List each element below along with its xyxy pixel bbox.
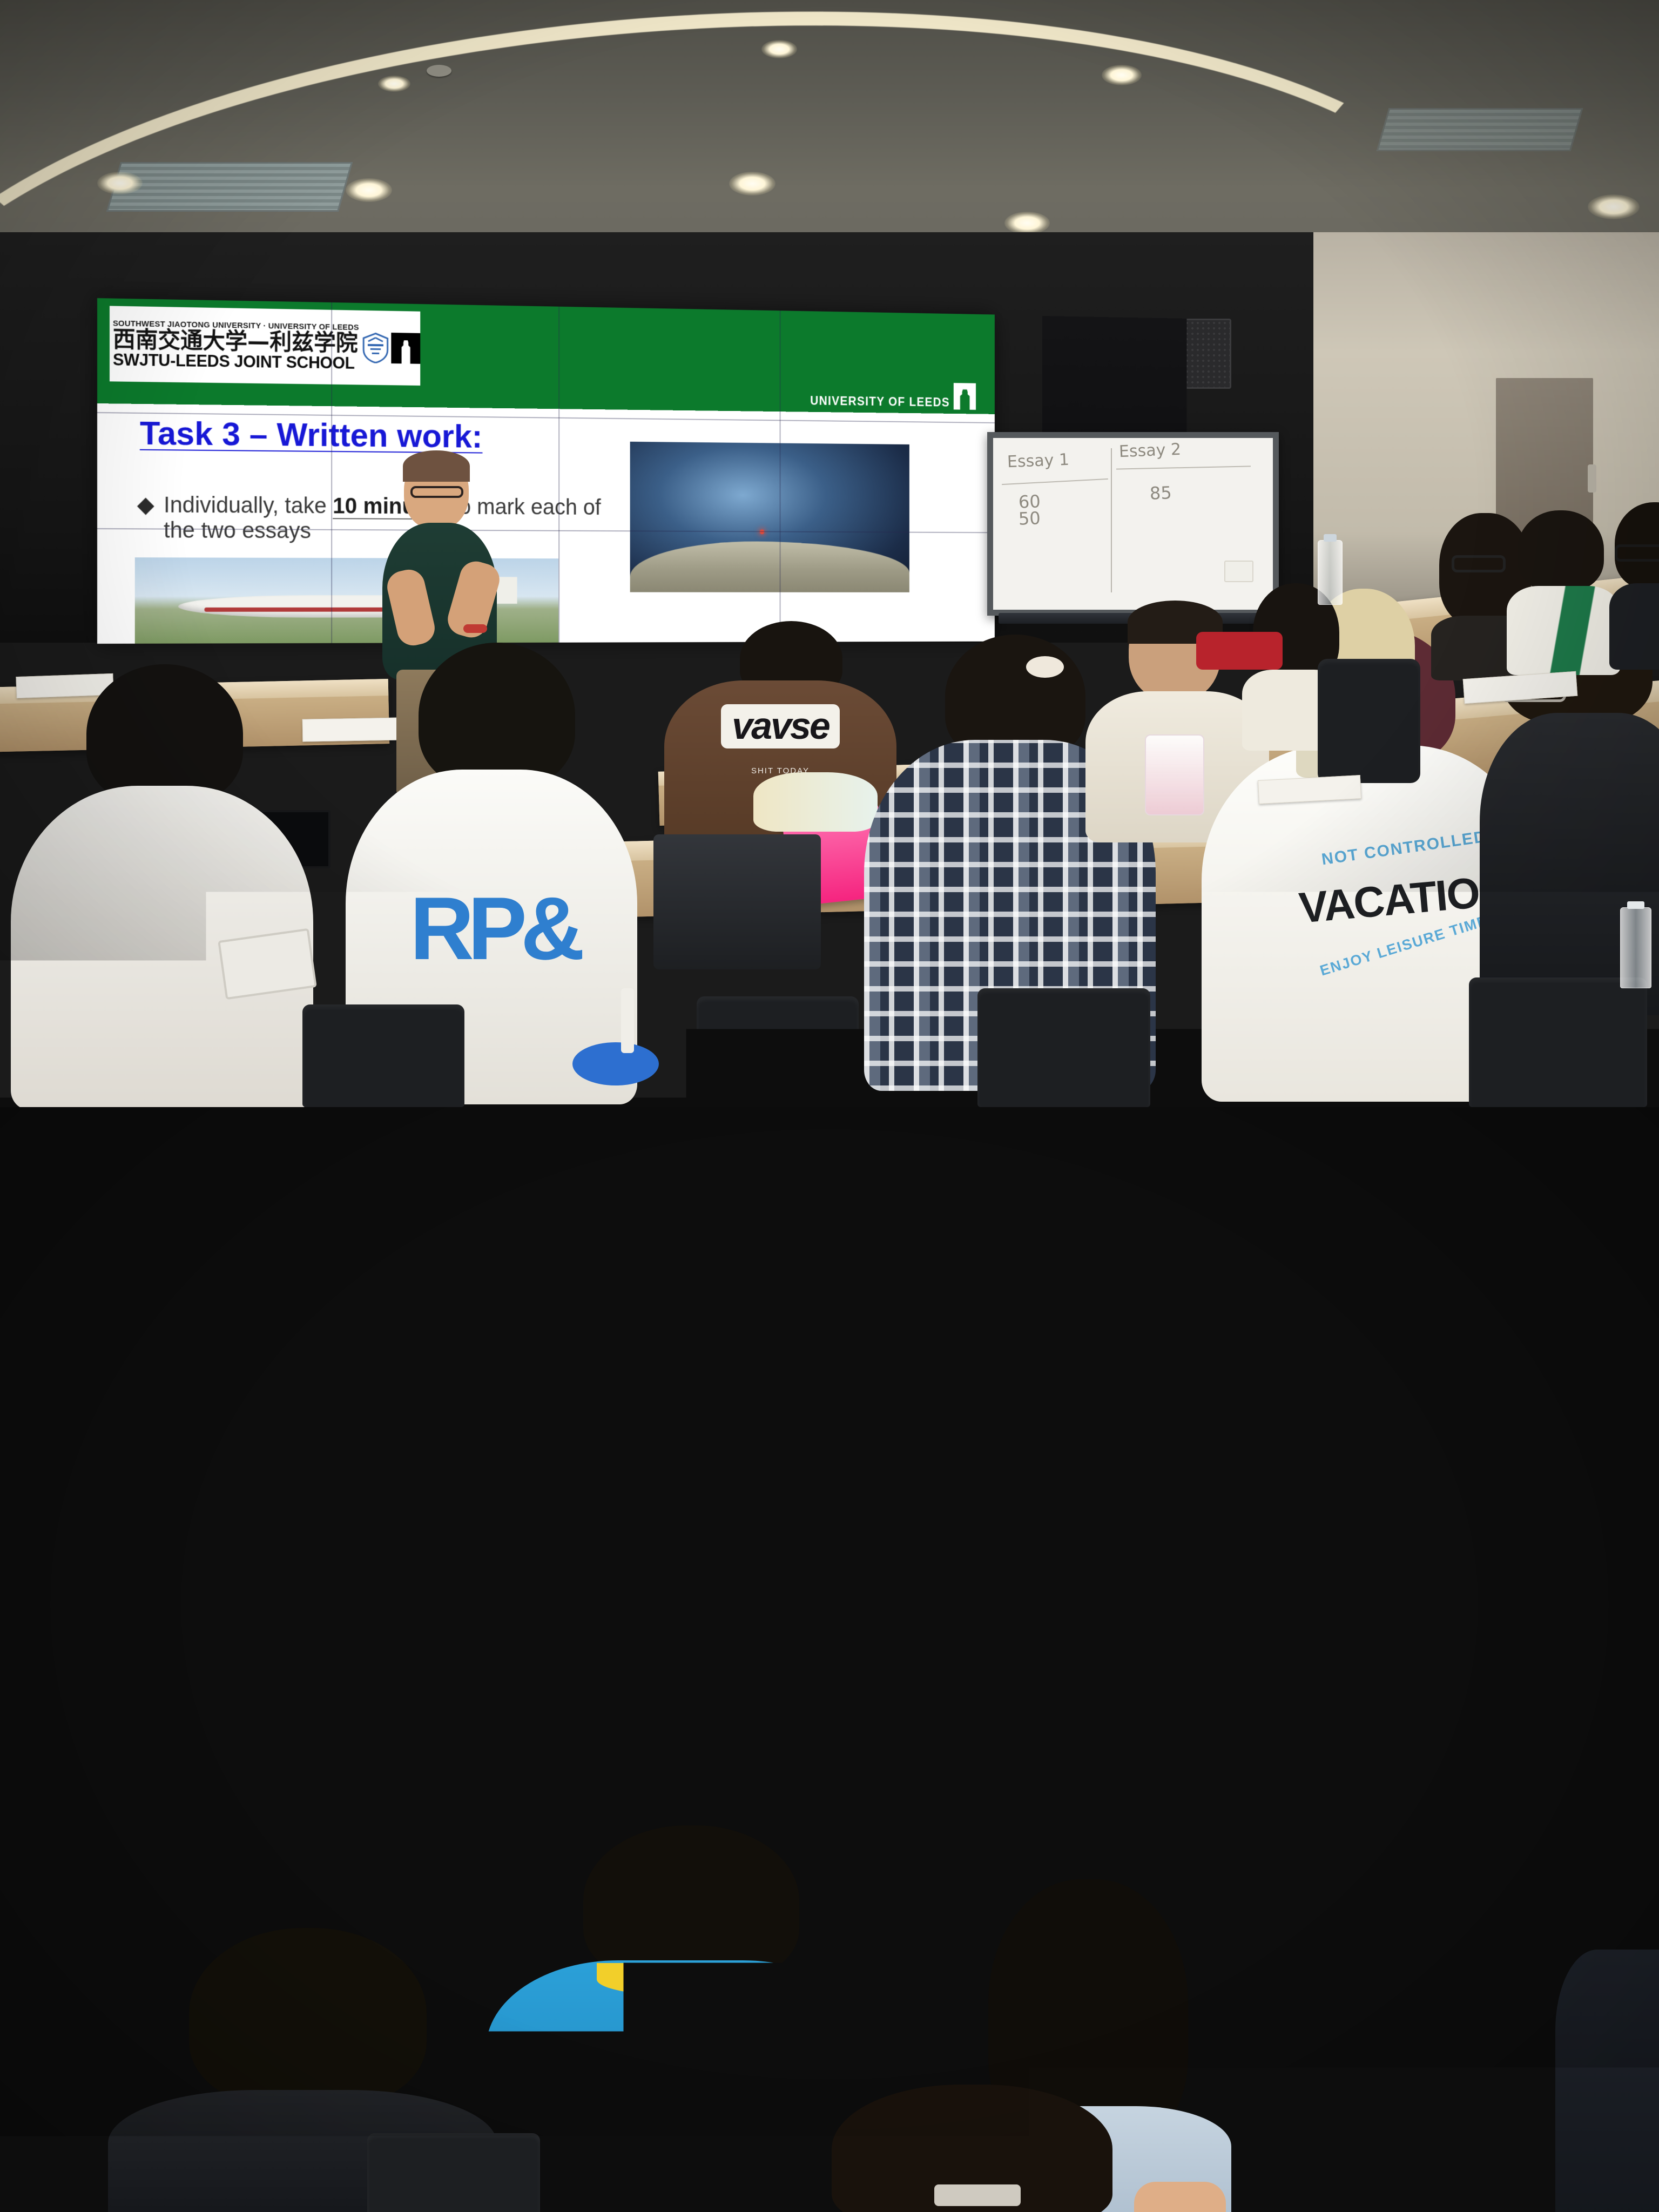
chair[interactable] xyxy=(1469,977,1647,1107)
wristband xyxy=(463,624,487,633)
ceiling-downlight xyxy=(346,178,392,202)
water-bottle[interactable] xyxy=(1620,907,1651,988)
chair[interactable] xyxy=(1318,659,1420,783)
student-hair xyxy=(419,643,575,788)
ac-vent xyxy=(106,162,353,212)
tablet-device[interactable] xyxy=(218,928,317,1000)
slide-title: Task 3 – Written work: xyxy=(140,414,483,456)
hair-clip-icon[interactable] xyxy=(934,2184,1021,2206)
leeds-tower-icon xyxy=(392,333,421,364)
water-bottle[interactable] xyxy=(1318,540,1343,605)
university-of-leeds-mark: UNIVERSITY OF LEEDS xyxy=(810,381,976,410)
ceiling-downlight xyxy=(1588,194,1640,219)
backpack xyxy=(653,834,821,969)
water-bottle[interactable] xyxy=(108,1771,137,1863)
ac-vent xyxy=(1377,108,1583,151)
smoke-detector-icon xyxy=(751,1144,775,1156)
student-torso xyxy=(1609,583,1659,670)
whiteboard-col2-header: Essay 2 xyxy=(1118,440,1181,461)
chair[interactable] xyxy=(977,988,1150,1107)
fabric-pile xyxy=(753,772,878,832)
drink-cup[interactable] xyxy=(1145,734,1204,815)
student-hand xyxy=(1134,2182,1226,2212)
student-green-white-tee xyxy=(1507,510,1620,672)
red-item xyxy=(1196,632,1283,670)
hair-clip-icon[interactable] xyxy=(1026,656,1064,678)
logo-line-en-bottom: SWJTU-LEEDS JOINT SCHOOL xyxy=(113,351,359,371)
ceiling-downlight xyxy=(97,172,143,194)
marker-pen xyxy=(621,988,634,1053)
wall-speaker xyxy=(1183,319,1231,389)
glasses-icon xyxy=(284,1524,364,1545)
whiteboard-underline xyxy=(1116,466,1251,469)
student-white-tee-left xyxy=(16,664,302,1107)
student-ponytail-front xyxy=(832,2085,1112,2212)
whiteboard-divider xyxy=(1111,448,1112,592)
whiteboard-col1-mark-2: 50 xyxy=(1018,508,1041,530)
wristband xyxy=(378,1687,403,1697)
slide-task3: SOUTHWEST JIAOTONG UNIVERSITY · UNIVERSI… xyxy=(97,298,995,644)
ceiling-downlight xyxy=(378,76,410,92)
wall-pillar xyxy=(0,1231,92,1836)
uol-tower-icon xyxy=(954,383,976,410)
student-far-right-back xyxy=(1609,502,1659,664)
glasses-icon xyxy=(1615,544,1659,562)
tablet-device[interactable] xyxy=(572,2182,751,2212)
ceiling-downlight xyxy=(761,40,797,58)
bench-metal-trim xyxy=(810,1724,1659,1773)
swjtu-leeds-logo: SOUTHWEST JIAOTONG UNIVERSITY · UNIVERSI… xyxy=(110,306,421,386)
ceiling-downlight xyxy=(443,1135,495,1161)
whiteboard[interactable]: Essay 1 Essay 2 60 50 85 xyxy=(987,432,1279,616)
whiteboard-col2-mark-1: 85 xyxy=(1149,482,1172,504)
polo-collar xyxy=(597,1963,753,1995)
student-dark-top-right xyxy=(1555,1950,1659,2212)
space-dunes-photo xyxy=(630,442,909,592)
door-handle-icon xyxy=(1588,464,1596,493)
smoke-detector-icon xyxy=(427,65,451,77)
chair[interactable] xyxy=(367,2133,540,2212)
student-torso xyxy=(1555,1950,1659,2212)
ceiling-downlight xyxy=(1004,212,1050,234)
top-photo: SOUTHWEST JIAOTONG UNIVERSITY · UNIVERSI… xyxy=(0,0,1659,1107)
whiteboard-col1-header: Essay 1 xyxy=(1007,450,1069,471)
slide-header-band: SOUTHWEST JIAOTONG UNIVERSITY · UNIVERSI… xyxy=(97,298,995,414)
diamond-bullet-icon: ◆ xyxy=(137,492,154,543)
ceiling-downlight xyxy=(1102,65,1142,85)
whiteboard-pen-holder[interactable] xyxy=(1224,561,1253,582)
water-bottle[interactable] xyxy=(6,1771,49,1879)
student-hair xyxy=(583,1825,799,1982)
chair[interactable] xyxy=(302,1004,464,1107)
drink-cup xyxy=(572,1042,659,1085)
whiteboard-underline xyxy=(1002,478,1108,484)
presenter-hair xyxy=(403,450,470,482)
photo-collage-stage: SOUTHWEST JIAOTONG UNIVERSITY · UNIVERSI… xyxy=(0,0,1659,2212)
swjtu-crest-icon xyxy=(362,332,389,363)
ac-vent xyxy=(1413,1139,1541,1172)
student-hair xyxy=(86,664,243,805)
student-hair xyxy=(1518,510,1604,591)
student-torso xyxy=(486,1960,875,2212)
ceiling-downlight xyxy=(729,172,775,195)
glasses-icon xyxy=(410,486,463,498)
video-wall-top[interactable]: SOUTHWEST JIAOTONG UNIVERSITY · UNIVERSI… xyxy=(97,298,995,644)
student-torso xyxy=(1507,586,1620,675)
student-hair xyxy=(189,1928,427,2106)
bottom-photo: SOUTHWEST JIAOTONG UNIVERSITY · UNIVERSI… xyxy=(0,1107,1659,2212)
ceiling-downlight xyxy=(1285,1129,1332,1152)
student-blue-polo xyxy=(486,1825,875,2212)
uol-wordmark: UNIVERSITY OF LEEDS xyxy=(810,394,950,410)
chair[interactable] xyxy=(1382,2149,1545,2212)
presenter-hair xyxy=(274,1472,372,1510)
presenter-hand xyxy=(278,1658,326,1697)
chair[interactable] xyxy=(697,996,859,1107)
glasses-icon xyxy=(1452,555,1506,572)
